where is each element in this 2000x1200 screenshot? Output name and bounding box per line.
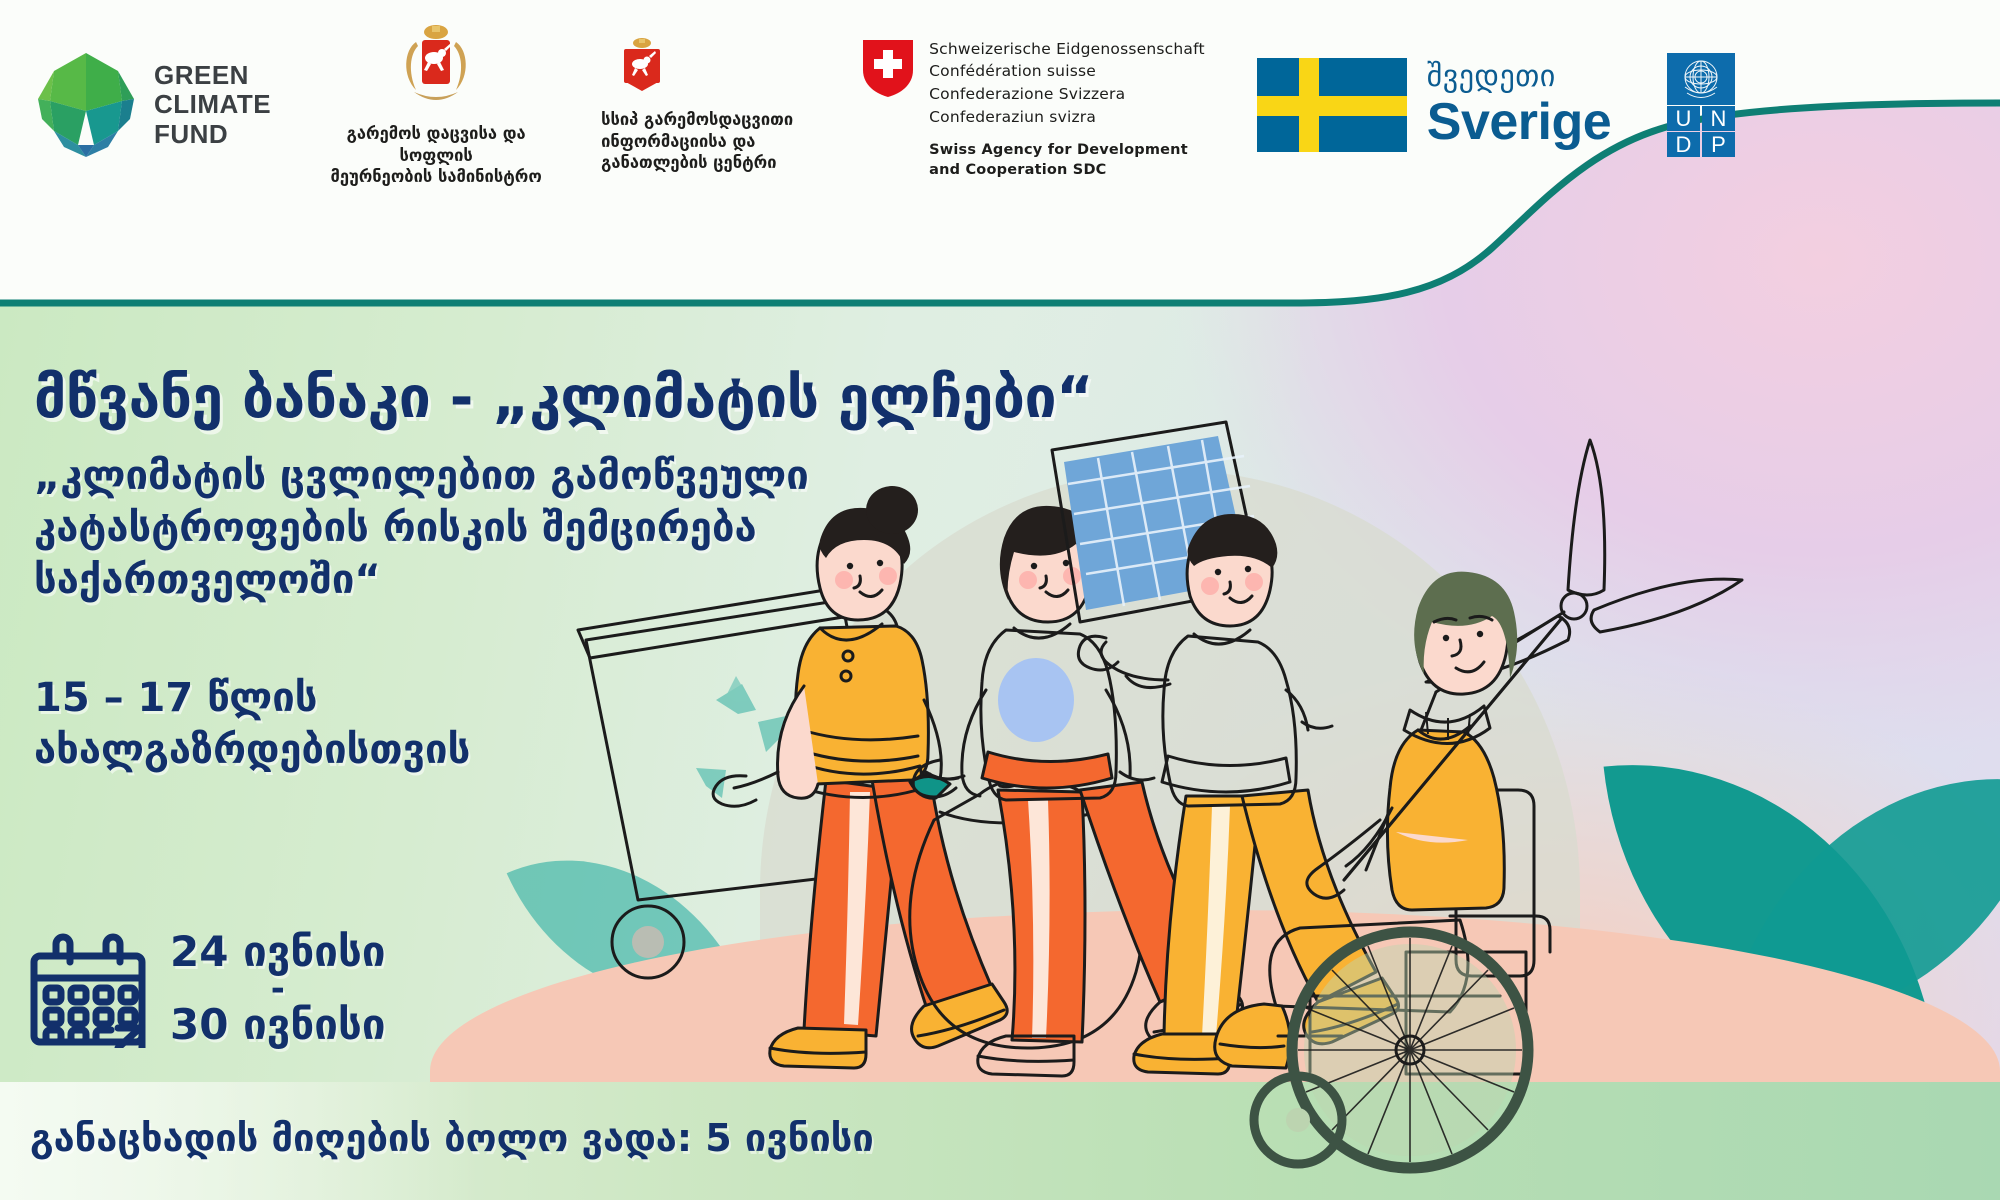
sweden-label-ka: შვედეთი [1427, 62, 1611, 92]
swiss-wordmark: Schweizerische Eidgenossenschaft Confédé… [929, 38, 1205, 180]
logo-environmental-info-centre: სსიპ გარემოსდაცვითი ინფორმაციისა და განა… [601, 36, 793, 174]
gcf-line-2: CLIMATE [154, 90, 271, 119]
logo-green-climate-fund: GREEN CLIMATE FUND [34, 49, 271, 161]
green-climate-fund-wordmark: GREEN CLIMATE FUND [154, 61, 271, 148]
logo-undp: U N D P [1667, 53, 1735, 157]
swiss-line-3: Confederazione Svizzera [929, 83, 1205, 106]
svg-text:N: N [1711, 106, 1727, 131]
date-block: 24 ივნისი - 30 ივნისი [30, 930, 386, 1048]
georgia-coat-of-arms-icon [394, 22, 478, 114]
sweden-label-en: Sverige [1427, 96, 1611, 148]
swiss-line-4: Confederaziun svizra [929, 106, 1205, 129]
age-line-2: ახალგაზრდებისთვის [34, 724, 1094, 776]
subtitle-line-1: „კლიმატის ცვლილებით გამოწვეული [34, 450, 1094, 502]
subtitle-line-2: კატასტროფების რისკის შემცირება [34, 502, 1094, 554]
ministry-wordmark: გარემოს დაცვისა და სოფლის მეურნეობის სამ… [311, 123, 561, 188]
ministry-line-1: გარემოს დაცვისა და სოფლის [311, 123, 561, 167]
age-line-1: 15 – 17 წლის [34, 672, 1094, 724]
logo-bar: GREEN CLIMATE FUND [0, 0, 2000, 210]
date-range: 24 ივნისი - 30 ივნისი [170, 930, 386, 1048]
page-title: მწვანე ბანაკი - „კლიმატის ელჩები“ [34, 368, 1094, 430]
svg-text:P: P [1711, 132, 1726, 157]
undp-icon: U N D P [1667, 53, 1735, 157]
logo-sweden: შვედეთი Sverige [1257, 58, 1611, 152]
text-block: მწვანე ბანაკი - „კლიმატის ელჩები“ „კლიმა… [34, 368, 1094, 776]
date-separator: - [170, 975, 386, 1004]
green-climate-fund-icon [34, 49, 138, 161]
poster-canvas: GREEN CLIMATE FUND [0, 0, 2000, 1200]
svg-text:U: U [1676, 106, 1692, 131]
logo-swiss-sdc: Schweizerische Eidgenossenschaft Confédé… [861, 30, 1205, 180]
subtitle-line-3: საქართველოში“ [34, 554, 1094, 606]
swiss-agency-line-2: and Cooperation SDC [929, 161, 1205, 180]
gcf-line-1: GREEN [154, 61, 271, 90]
centre-line-2: ინფორმაციისა და [601, 131, 793, 153]
centre-line-3: განათლების ცენტრი [601, 152, 793, 174]
centre-wordmark: სსიპ გარემოსდაცვითი ინფორმაციისა და განა… [601, 109, 793, 174]
gcf-line-3: FUND [154, 120, 271, 149]
date-end: 30 ივნისი [170, 1003, 386, 1048]
age-group: 15 – 17 წლის ახალგაზრდებისთვის [34, 672, 1094, 776]
subtitle: „კლიმატის ცვლილებით გამოწვეული კატასტროფ… [34, 450, 1094, 606]
date-start: 24 ივნისი [170, 930, 386, 975]
sweden-wordmark: შვედეთი Sverige [1427, 62, 1611, 148]
svg-text:D: D [1676, 132, 1692, 157]
application-deadline: განაცხადის მიღების ბოლო ვადა: 5 ივნისი [30, 1118, 874, 1160]
georgia-shield-icon [615, 36, 669, 100]
calendar-icon [30, 930, 146, 1048]
swiss-shield-icon [861, 38, 915, 98]
swiss-line-2: Confédération suisse [929, 60, 1205, 83]
swiss-line-1: Schweizerische Eidgenossenschaft [929, 38, 1205, 61]
centre-line-1: სსიპ გარემოსდაცვითი [601, 109, 793, 131]
swiss-agency-line-1: Swiss Agency for Development [929, 141, 1205, 160]
logo-ministry-environment: გარემოს დაცვისა და სოფლის მეურნეობის სამ… [311, 22, 561, 188]
ministry-line-2: მეურნეობის სამინისტრო [311, 166, 561, 188]
sweden-flag-icon [1257, 58, 1407, 152]
